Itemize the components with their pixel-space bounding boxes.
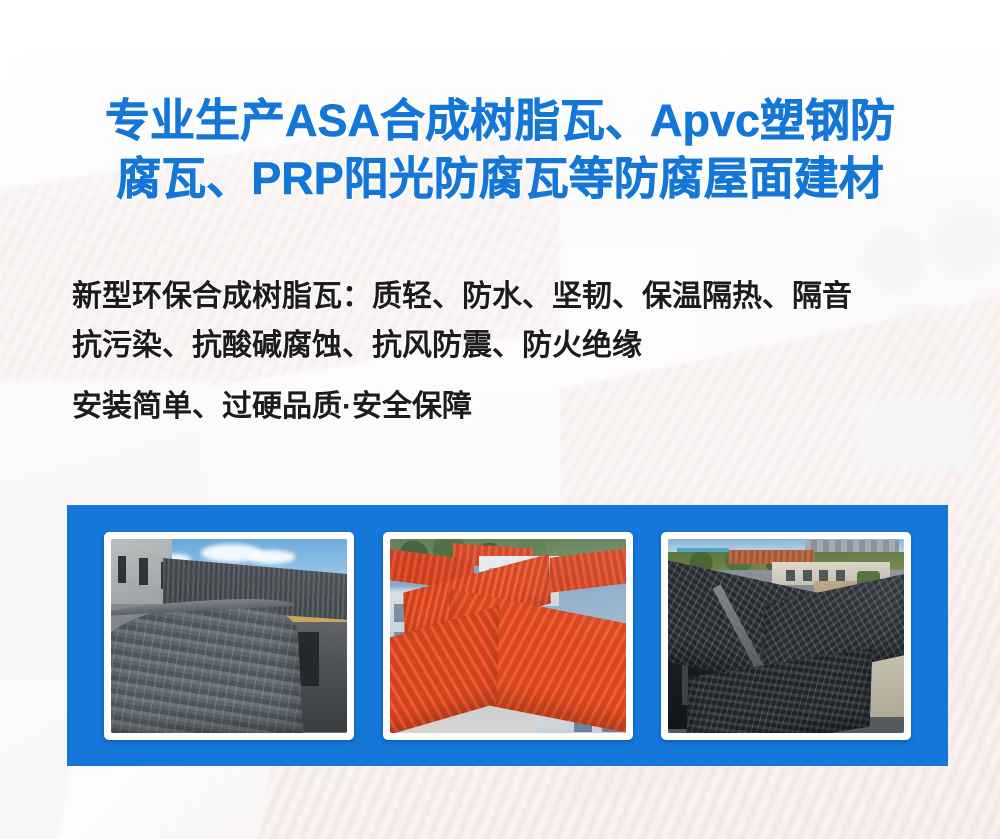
photo-frame-1[interactable] [104,532,354,740]
photo1-main-tiled-roof [111,597,303,732]
photo3-window [836,570,845,582]
subtitle-line-2: 抗污染、抗酸碱腐蚀、抗风防震、防火绝缘 [72,321,952,370]
headline: 专业生产ASA合成树脂瓦、Apvc塑钢防 腐瓦、PRP阳光防腐瓦等防腐屋面建材 [0,92,1000,208]
headline-line-2: 腐瓦、PRP阳光防腐瓦等防腐屋面建材 [0,150,1000,208]
promo-banner: 专业生产ASA合成树脂瓦、Apvc塑钢防 腐瓦、PRP阳光防腐瓦等防腐屋面建材 … [0,0,1000,839]
photo3-window [803,570,812,582]
headline-line-1: 专业生产ASA合成树脂瓦、Apvc塑钢防 [0,92,1000,150]
photo-gallery-panel [67,505,948,766]
photo1-window [118,556,126,583]
photo1-window [139,558,147,585]
photo3-window [819,570,828,582]
photo3-window [786,570,795,582]
subtitle-line-3: 安装简单、过硬品质·安全保障 [72,382,952,431]
grey-resin-tile-roof-closeup-image [111,539,347,733]
black-resin-tile-roof-village-image [668,539,904,733]
subtitle-block: 新型环保合成树脂瓦：质轻、防水、坚韧、保温隔热、隔音 抗污染、抗酸碱腐蚀、抗风防… [72,272,952,431]
photo-frame-3[interactable] [661,532,911,740]
photo-frame-2[interactable] [383,532,633,740]
photo1-cloud [248,550,295,564]
red-resin-tile-roof-buildings-image [390,539,626,733]
subtitle-line-1: 新型环保合成树脂瓦：质轻、防水、坚韧、保温隔热、隔音 [72,272,952,321]
